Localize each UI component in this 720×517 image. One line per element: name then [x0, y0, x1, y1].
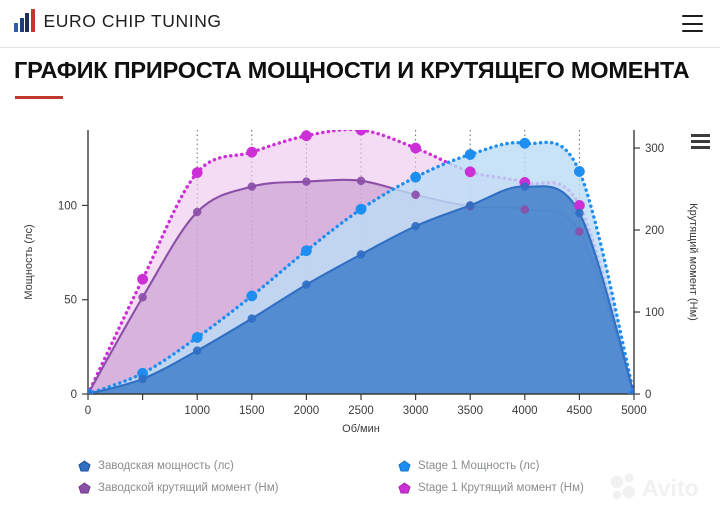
y2-axis-title: Крутящий момент (Нм) — [687, 203, 699, 321]
x-tick-label: 3500 — [457, 405, 483, 417]
x-tick-label: 3000 — [403, 405, 429, 417]
legend-marker-icon — [78, 460, 91, 472]
legend-label: Stage 1 Мощность (лс) — [418, 460, 539, 472]
page-root: EURO CHIP TUNING ГРАФИК ПРИРОСТА МОЩНОСТ… — [0, 0, 720, 517]
legend-item[interactable]: Stage 1 Мощность (лс) — [398, 455, 584, 477]
legend-label: Заводской крутящий момент (Нм) — [98, 482, 278, 494]
legend-marker-icon — [398, 460, 411, 472]
x-tick-label: 4000 — [512, 405, 538, 417]
x-tick-label: 2000 — [294, 405, 320, 417]
y2-tick-label: 0 — [645, 389, 651, 401]
page-title: ГРАФИК ПРИРОСТА МОЩНОСТИ И КРУТЯЩЕГО МОМ… — [14, 57, 704, 84]
legend-item[interactable]: Заводская мощность (лс) — [78, 455, 278, 477]
y2-tick-label: 100 — [645, 307, 664, 319]
legend-item[interactable]: Stage 1 Крутящий момент (Нм) — [398, 477, 584, 499]
x-tick-label: 4500 — [567, 405, 593, 417]
y-tick-label: 100 — [58, 200, 77, 212]
brand-logo[interactable]: EURO CHIP TUNING — [14, 10, 222, 32]
avito-watermark: Avito — [606, 469, 712, 503]
legend-label: Заводская мощность (лс) — [98, 460, 234, 472]
x-tick-label: 5000 — [621, 405, 647, 417]
legend-column-right: Stage 1 Мощность (лс) Stage 1 Крутящий м… — [398, 455, 584, 499]
y2-tick-label: 200 — [645, 225, 664, 237]
chart-series-layer — [88, 129, 634, 394]
y-tick-label: 50 — [64, 295, 77, 307]
y-tick-label: 0 — [71, 389, 77, 401]
y-axis-title: Мощность (лс) — [23, 224, 35, 299]
bar-chart-logo-icon — [14, 10, 35, 32]
legend-marker-icon — [398, 482, 411, 494]
hamburger-menu-icon[interactable] — [682, 15, 703, 32]
svg-text:Avito: Avito — [642, 475, 699, 501]
chart-container: 0100015002000250030003500400045005000050… — [0, 112, 720, 464]
title-underline-rule — [15, 96, 63, 99]
power-torque-chart: 0100015002000250030003500400045005000050… — [0, 112, 720, 464]
site-header: EURO CHIP TUNING — [0, 0, 720, 48]
x-axis-title: Об/мин — [342, 423, 380, 435]
legend-label: Stage 1 Крутящий момент (Нм) — [418, 482, 584, 494]
legend-item[interactable]: Заводской крутящий момент (Нм) — [78, 477, 278, 499]
x-tick-label: 0 — [85, 405, 91, 417]
brand-name: EURO CHIP TUNING — [44, 11, 222, 32]
x-tick-label: 1000 — [184, 405, 210, 417]
y2-tick-label: 300 — [645, 143, 664, 155]
legend-marker-icon — [78, 482, 91, 494]
legend-column-left: Заводская мощность (лс) Заводской крутящ… — [78, 455, 278, 499]
chart-legend: Заводская мощность (лс) Заводской крутящ… — [0, 455, 720, 507]
x-tick-label: 1500 — [239, 405, 265, 417]
x-tick-label: 2500 — [348, 405, 374, 417]
